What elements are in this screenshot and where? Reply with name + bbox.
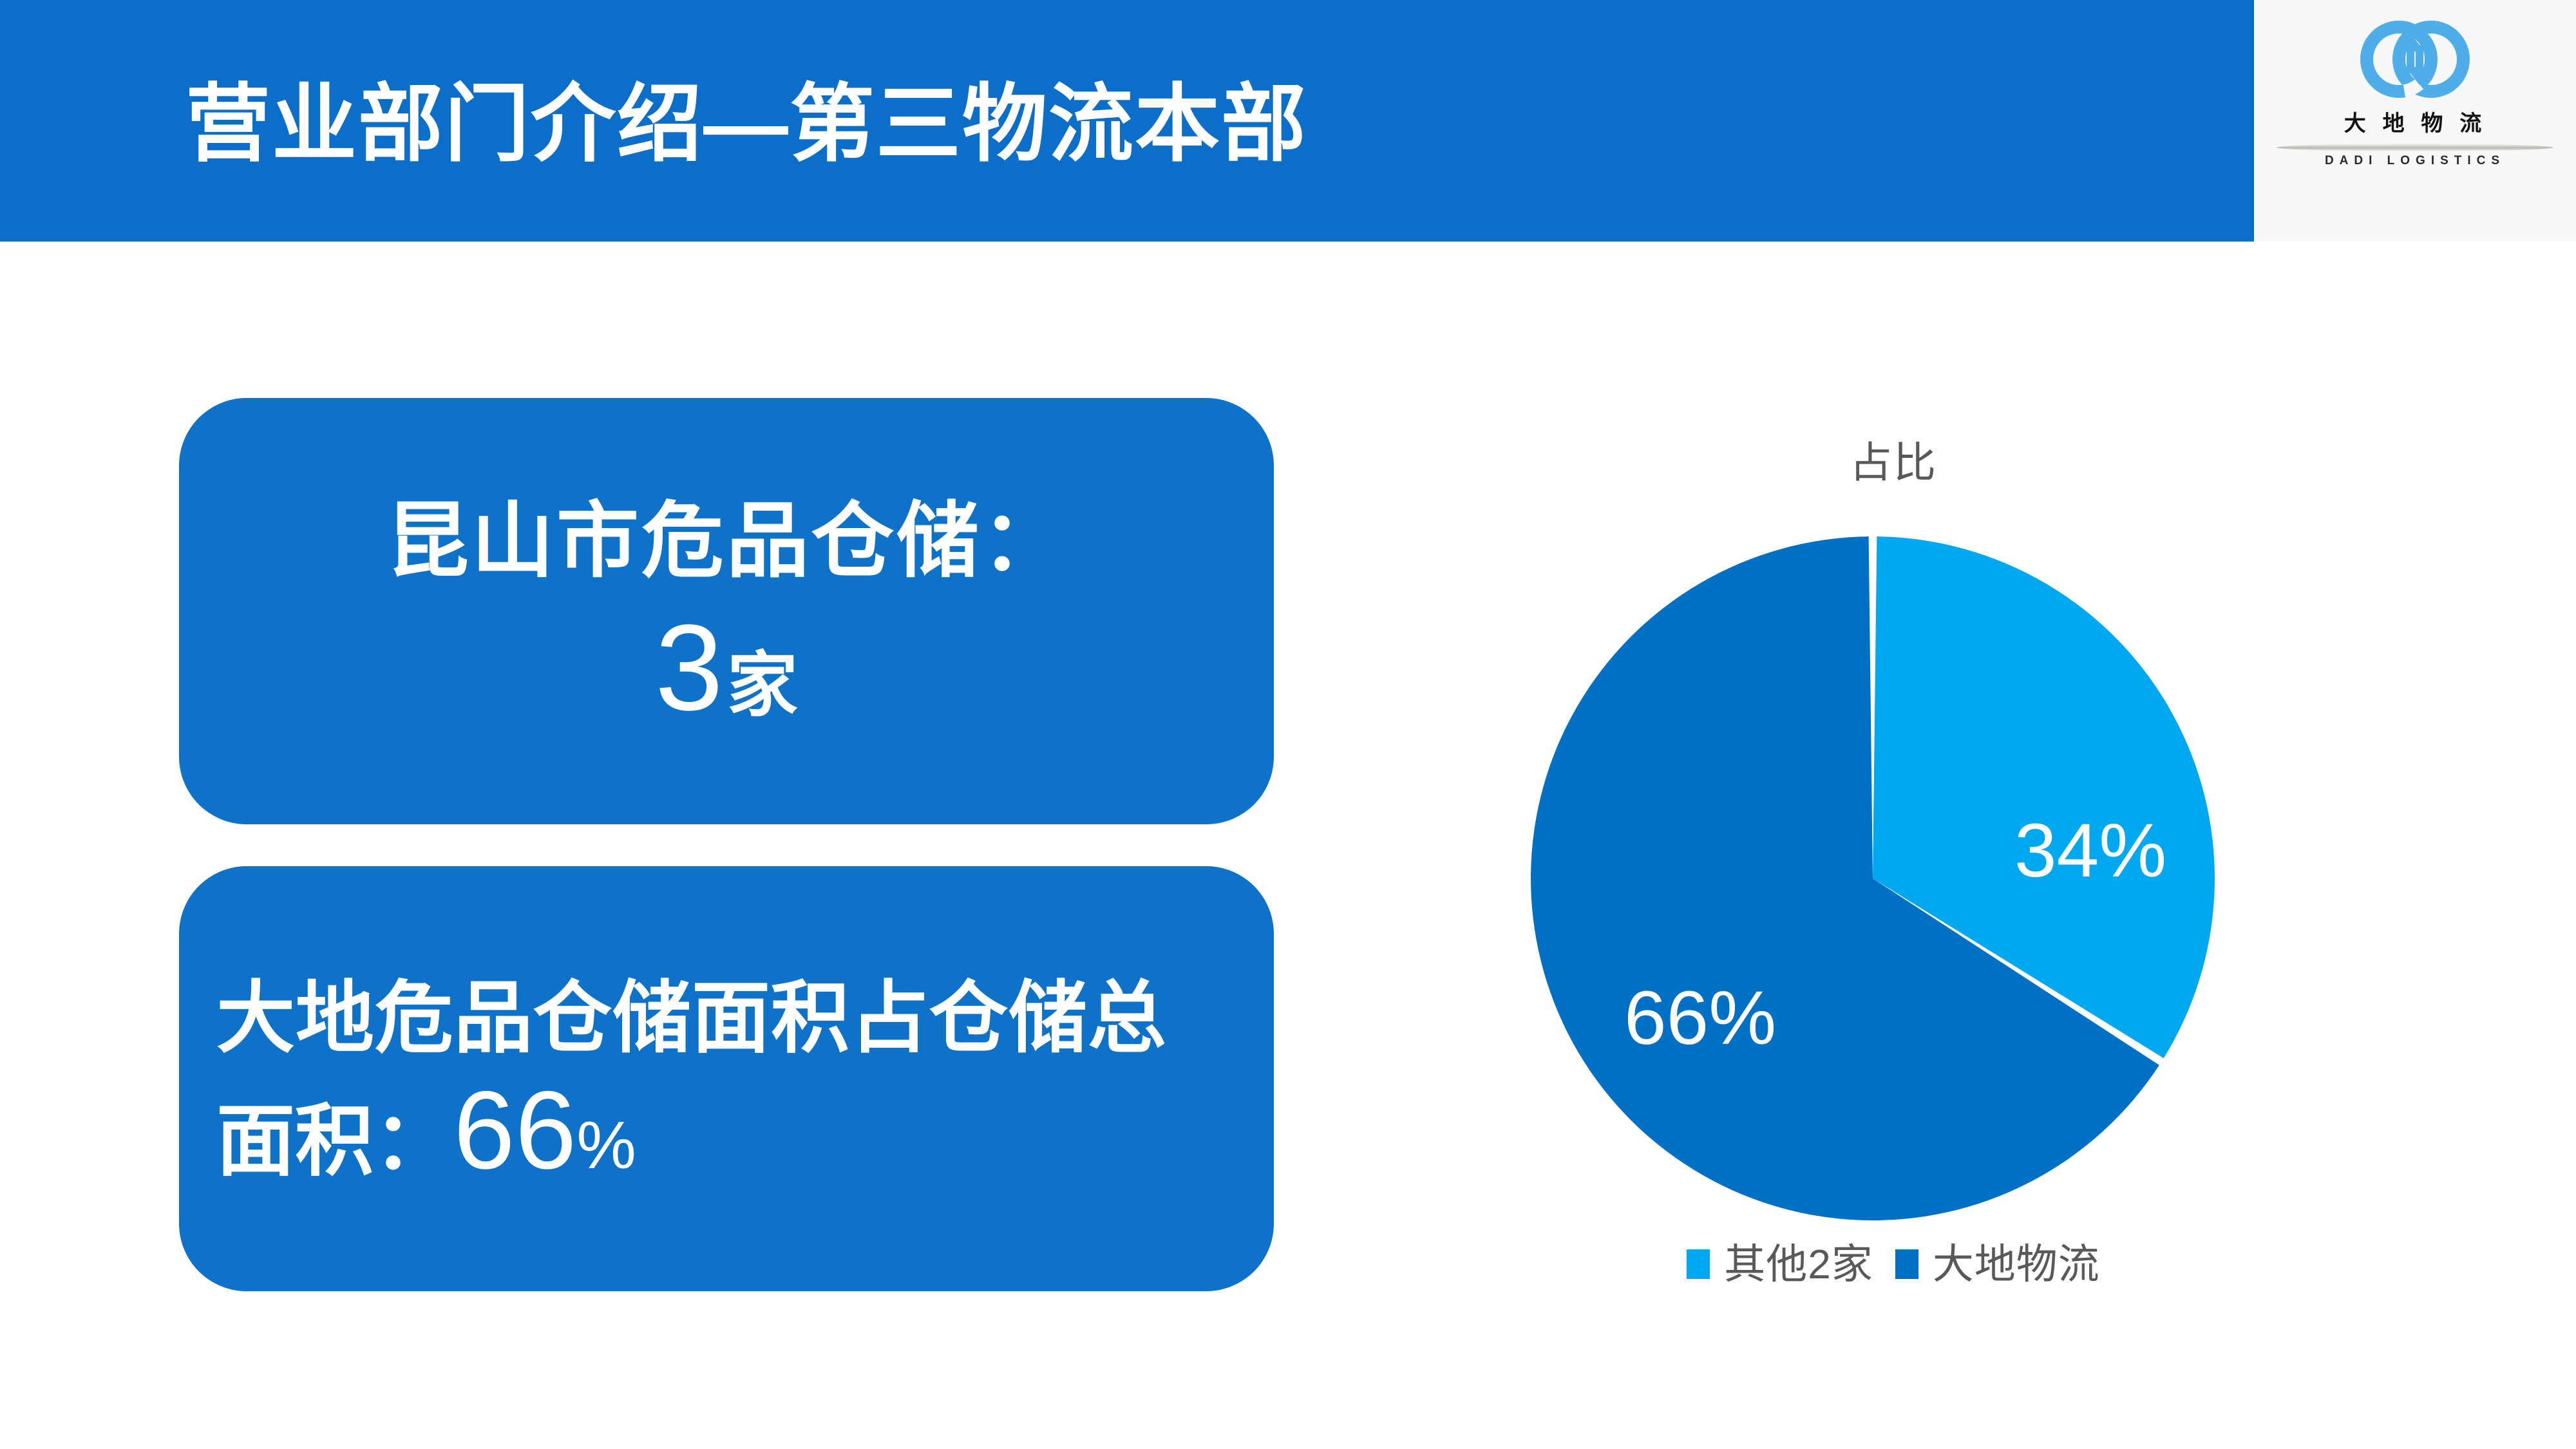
logo-swoosh-divider [2277, 144, 2553, 151]
dadi-circular-arrows-logo-icon [2354, 14, 2476, 104]
logo-chinese-name: 大 地 物 流 [2344, 106, 2486, 137]
logo-english-name: DADI LOGISTICS [2325, 154, 2505, 168]
legend-label-dadi: 大地物流 [1933, 1242, 2100, 1287]
card-area-share-value: 66 [453, 1088, 576, 1172]
brand-logo: 大 地 物 流 DADI LOGISTICS [2254, 0, 2576, 241]
card-area-share-heading: 大地危品仓储面积占仓储总 [216, 970, 1167, 1066]
pie-plot-area: 34% 66% [1475, 536, 2312, 1222]
slide-canvas: 营业部门介绍—第三物流本部 大 地 物 流 DADI LOGISTICS 昆山市… [0, 0, 2576, 1449]
header-bar: 营业部门介绍—第三物流本部 [0, 0, 2254, 241]
legend-label-other: 其他2家 [1724, 1242, 1873, 1287]
card-area-share-percent-sign: % [576, 1104, 636, 1188]
legend-swatch-dadi-icon [1895, 1249, 1918, 1279]
chart-legend: 其他2家 大地物流 [1475, 1242, 2312, 1287]
card-area-share: 大地危品仓储面积占仓储总 面积： 66 % [179, 866, 1274, 1291]
pie-chart: 占比 34% 66% 其他2家 大地物流 [1475, 412, 2312, 1327]
card-storage-count-value: 3 [655, 607, 723, 729]
pie-label-other: 34% [2014, 813, 2166, 889]
card-storage-count-unit: 家 [727, 650, 798, 721]
legend-item-dadi[interactable]: 大地物流 [1895, 1242, 2100, 1287]
pie-label-dadi: 66% [1624, 980, 1776, 1056]
card-storage-count-heading: 昆山市危品仓储： [386, 493, 1066, 590]
page-title: 营业部门介绍—第三物流本部 [185, 70, 1307, 179]
card-storage-count-value-row: 3 家 [655, 607, 798, 729]
card-area-share-label: 面积： [216, 1099, 452, 1183]
legend-item-other[interactable]: 其他2家 [1687, 1242, 1873, 1287]
chart-title: 占比 [1475, 437, 2312, 488]
card-storage-count: 昆山市危品仓储： 3 家 [179, 398, 1274, 824]
legend-swatch-other-icon [1687, 1249, 1710, 1279]
card-area-share-value-row: 面积： 66 % [216, 1088, 636, 1188]
